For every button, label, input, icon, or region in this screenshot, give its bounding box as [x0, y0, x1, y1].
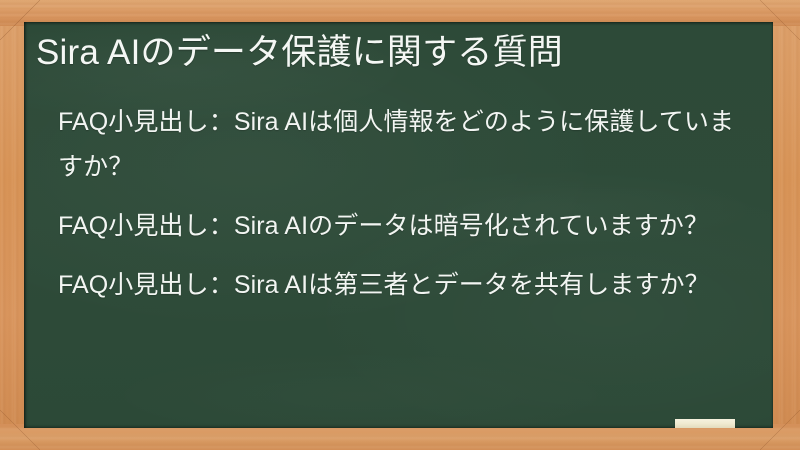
list-item: FAQ小見出し：Sira AIは第三者とデータを共有しますか？ [58, 263, 740, 308]
page-title: Sira AIのデータ保護に関する質問 [36, 30, 756, 76]
list-item: FAQ小見出し：Sira AIは個人情報をどのように保護していますか？ [58, 100, 740, 190]
chalkboard-slide: Sira AIのデータ保護に関する質問 FAQ小見出し：Sira AIは個人情報… [0, 0, 800, 450]
chalkboard-surface: Sira AIのデータ保護に関する質問 FAQ小見出し：Sira AIは個人情報… [24, 22, 773, 428]
faq-list: FAQ小見出し：Sira AIは個人情報をどのように保護していますか？ FAQ小… [58, 100, 740, 308]
list-item: FAQ小見出し：Sira AIのデータは暗号化されていますか？ [58, 204, 740, 249]
chalk-stick-icon [675, 419, 735, 428]
